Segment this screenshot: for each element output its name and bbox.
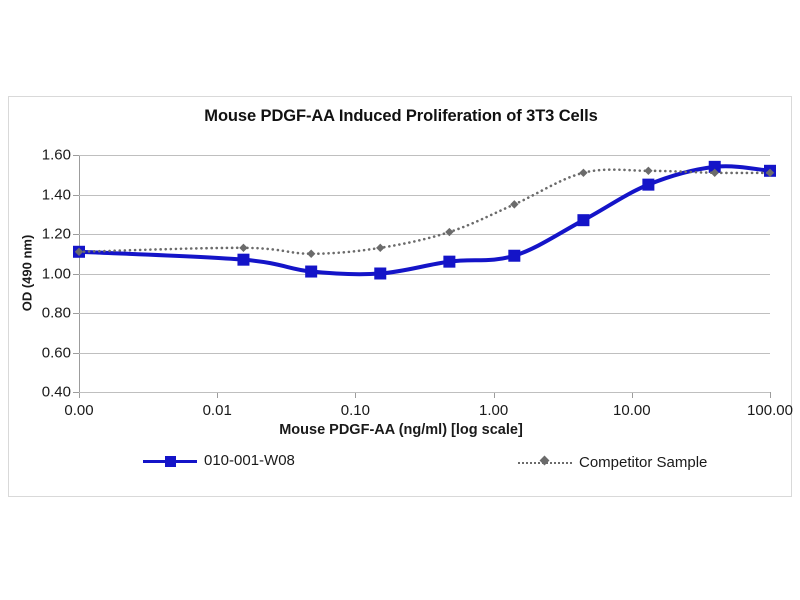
chart-figure: Mouse PDGF-AA Induced Proliferation of 3… [8, 96, 792, 497]
x-axis-tick-label: 10.00 [613, 402, 651, 419]
x-axis-tick-label: 100.00 [747, 402, 793, 419]
gridline [79, 392, 770, 393]
data-point-marker-diamond [644, 167, 652, 175]
data-point-marker-diamond [445, 228, 453, 236]
data-point-marker-diamond [510, 200, 518, 208]
legend-swatch-dotted-diamond-icon [518, 455, 572, 471]
plot-area: 0.400.600.801.001.201.401.60 [79, 155, 770, 392]
x-axis-tick-label: 0.01 [203, 402, 232, 419]
legend-item-competitor[interactable]: Competitor Sample [518, 454, 707, 471]
data-point-marker-square [508, 250, 520, 262]
series-line [79, 166, 770, 274]
data-point-marker-diamond [307, 250, 315, 258]
x-axis-tick-label: 0.00 [64, 402, 93, 419]
data-point-marker-square [374, 268, 386, 280]
legend-label-competitor: Competitor Sample [579, 454, 707, 471]
legend-swatch-solid-square-icon [143, 453, 197, 469]
data-point-marker-square [577, 214, 589, 226]
series-primary [73, 161, 776, 280]
data-point-marker-square [305, 266, 317, 278]
data-point-marker-square [642, 179, 654, 191]
legend-label-primary: 010-001-W08 [204, 452, 295, 469]
series-line [79, 170, 770, 254]
data-point-marker-square [443, 256, 455, 268]
data-point-marker-diamond [239, 244, 247, 252]
legend-item-primary[interactable]: 010-001-W08 [143, 452, 295, 469]
y-axis-tick-label: 0.80 [11, 305, 71, 322]
x-axis-title: Mouse PDGF-AA (ng/ml) [log scale] [9, 422, 793, 438]
y-axis-tick-label: 1.20 [11, 226, 71, 243]
series-layer [79, 155, 770, 392]
y-axis-tick-label: 0.60 [11, 344, 71, 361]
y-axis-tick-label: 1.60 [11, 147, 71, 164]
chart-legend: 010-001-W08 Competitor Sample [9, 452, 793, 482]
x-axis-tick-label: 1.00 [479, 402, 508, 419]
y-axis-tick-label: 0.40 [11, 384, 71, 401]
data-point-marker-diamond [376, 244, 384, 252]
chart-title: Mouse PDGF-AA Induced Proliferation of 3… [9, 107, 793, 126]
x-axis-tick-mark [770, 392, 771, 398]
x-axis-tick-label: 0.10 [341, 402, 370, 419]
y-axis-tick-label: 1.00 [11, 265, 71, 282]
data-point-marker-square [237, 254, 249, 266]
y-axis-tick-label: 1.40 [11, 186, 71, 203]
data-point-marker-diamond [579, 169, 587, 177]
series-competitor [75, 167, 774, 258]
